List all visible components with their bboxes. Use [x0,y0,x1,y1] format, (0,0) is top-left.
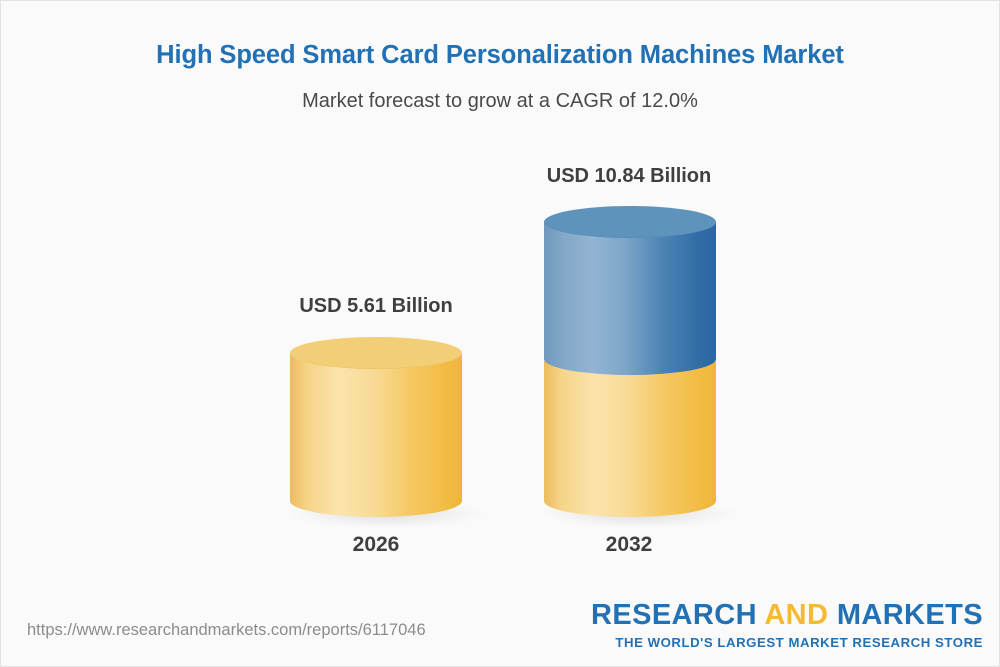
brand-name-research: RESEARCH [591,599,764,631]
bar-2026-body [290,353,462,517]
bar-2032-upper-body [544,222,716,375]
source-url[interactable]: https://www.researchandmarkets.com/repor… [27,621,426,640]
brand-name: RESEARCH AND MARKETS [591,601,983,630]
category-label-2026: 2026 [286,533,466,557]
brand-logo: RESEARCH AND MARKETS THE WORLD'S LARGEST… [591,601,983,649]
brand-tagline: THE WORLD'S LARGEST MARKET RESEARCH STOR… [591,636,983,649]
brand-name-and: AND [764,599,837,631]
data-label-2032: USD 10.84 Billion [539,165,719,188]
data-label-2026: USD 5.61 Billion [286,295,466,318]
cylinder-bars-graphic [1,1,1000,667]
bar-cylinder-2026 [290,337,462,517]
bar-cylinder-2032 [544,206,716,517]
market-forecast-infographic: High Speed Smart Card Personalization Ma… [0,0,1000,667]
chart-plot-area: USD 5.61 Billion USD 10.84 Billion 2026 … [1,1,1000,667]
category-label-2032: 2032 [539,533,719,557]
brand-name-markets: MARKETS [837,599,983,631]
bar-2032-lower-body [544,361,716,517]
